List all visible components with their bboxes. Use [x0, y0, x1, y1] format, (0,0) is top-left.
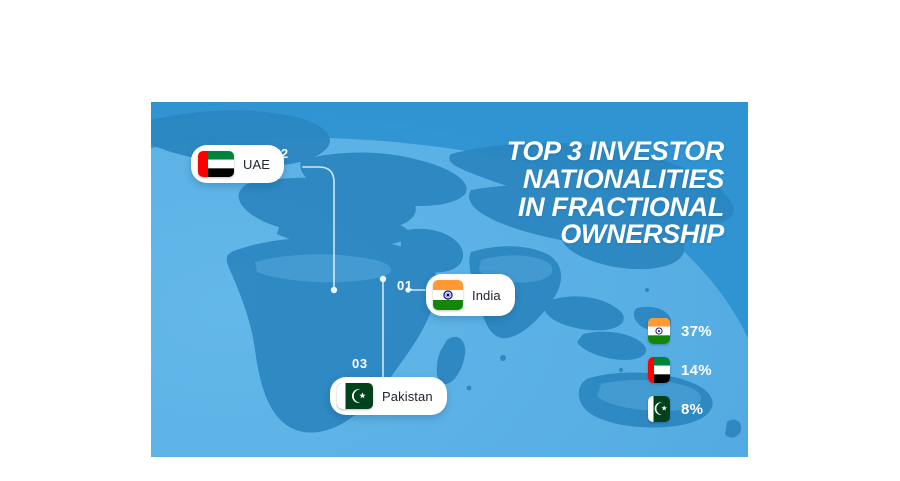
legend: 37% 14% — [648, 318, 712, 422]
map-marker-label-pakistan: Pakistan — [382, 389, 433, 404]
legend-row-uae: 14% — [648, 357, 712, 383]
legend-row-india: 37% — [648, 318, 712, 344]
pakistan-flag-icon — [648, 396, 670, 422]
legend-row-pakistan: 8% — [648, 396, 712, 422]
rank-label-pakistan: 03 — [352, 356, 368, 371]
pakistan-flag-icon — [337, 383, 373, 409]
india-flag-icon — [433, 280, 463, 310]
map-marker-india[interactable]: India — [426, 274, 515, 316]
legend-percent-pakistan: 8% — [681, 401, 703, 418]
india-flag-icon — [648, 318, 670, 344]
legend-percent-india: 37% — [681, 323, 712, 340]
legend-percent-uae: 14% — [681, 362, 712, 379]
uae-flag-icon — [198, 151, 234, 177]
map-marker-uae[interactable]: UAE — [191, 145, 284, 183]
map-marker-label-india: India — [472, 288, 501, 303]
page-title: TOP 3 INVESTOR NATIONALITIES IN FRACTION… — [394, 138, 724, 249]
map-marker-pakistan[interactable]: Pakistan — [330, 377, 447, 415]
uae-flag-icon — [648, 357, 670, 383]
infographic-canvas: TOP 3 INVESTOR NATIONALITIES IN FRACTION… — [0, 0, 900, 481]
map-marker-label-uae: UAE — [243, 157, 270, 172]
rank-label-india: 01 — [397, 278, 413, 293]
infographic-card: TOP 3 INVESTOR NATIONALITIES IN FRACTION… — [151, 102, 748, 457]
